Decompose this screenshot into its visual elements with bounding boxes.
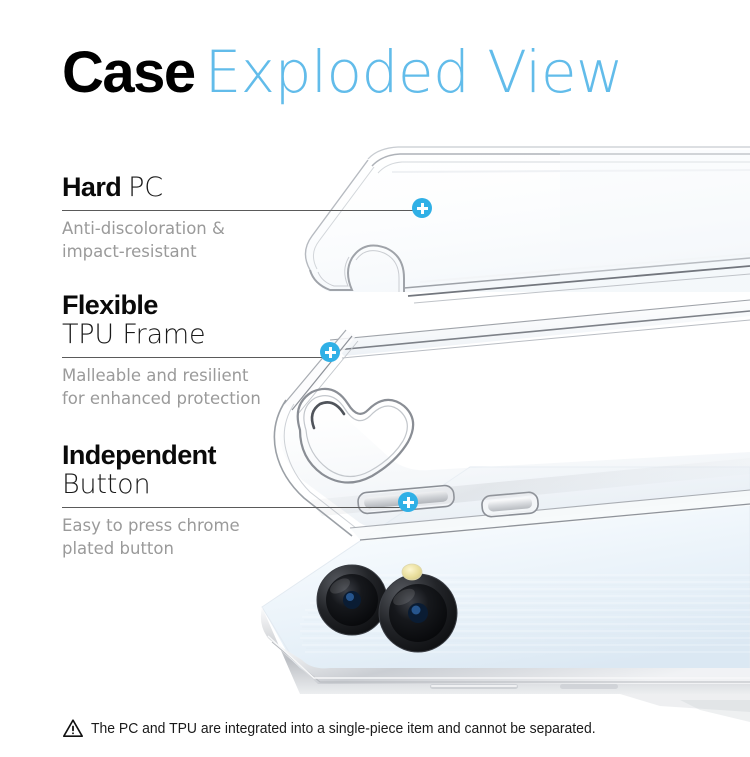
feature-hard-pc: HardPC Anti-discoloration & impact-resis…: [62, 172, 414, 264]
feature-hard-pc-description: Anti-discoloration & impact-resistant: [62, 218, 414, 264]
feature-hard-pc-heading: HardPC: [62, 172, 414, 203]
feature-hard-pc-light-label: PC: [128, 172, 163, 203]
camera-module: [317, 564, 457, 652]
page-title-bold: Case: [62, 40, 195, 105]
feature-independent-button-heading: Independent Button: [62, 440, 408, 500]
feature-flexible-tpu-frame-light-label: TPU Frame: [62, 320, 322, 350]
plus-marker-button[interactable]: [398, 492, 418, 512]
feature-independent-button-bold-label: Independent: [62, 440, 216, 470]
page-title: CaseExploded View: [62, 38, 623, 106]
warning-triangle-icon: [62, 718, 84, 738]
footer-disclaimer-text: The PC and TPU are integrated into a sin…: [91, 720, 596, 737]
feature-hard-pc-rule: [62, 210, 414, 211]
plus-marker-hard-pc[interactable]: [412, 198, 432, 218]
feature-hard-pc-desc-line2: impact-resistant: [62, 242, 197, 261]
feature-flexible-tpu-frame-desc-line2: for enhanced protection: [62, 389, 261, 408]
feature-hard-pc-desc-line1: Anti-discoloration &: [62, 219, 225, 238]
feature-independent-button-description: Easy to press chrome plated button: [62, 515, 408, 561]
page-title-light: Exploded View: [205, 38, 623, 106]
feature-hard-pc-bold-label: Hard: [62, 172, 121, 202]
feature-flexible-tpu-frame-rule: [62, 357, 322, 358]
feature-independent-button-light-label: Button: [62, 470, 408, 500]
phone-side-buttons: [430, 684, 618, 689]
feature-independent-button-desc-line1: Easy to press chrome: [62, 516, 240, 535]
footer-disclaimer: The PC and TPU are integrated into a sin…: [62, 718, 634, 738]
feature-independent-button: Independent Button Easy to press chrome …: [62, 440, 408, 561]
feature-flexible-tpu-frame: Flexible TPU Frame Malleable and resilie…: [62, 290, 322, 411]
feature-flexible-tpu-frame-heading: Flexible TPU Frame: [62, 290, 322, 350]
feature-independent-button-desc-line2: plated button: [62, 539, 174, 558]
feature-flexible-tpu-frame-bold-label: Flexible: [62, 290, 158, 320]
plus-marker-tpu-frame[interactable]: [320, 342, 340, 362]
infographic-page: CaseExploded View HardPC Anti-discolorat…: [0, 0, 750, 757]
feature-flexible-tpu-frame-description: Malleable and resilient for enhanced pro…: [62, 365, 322, 411]
feature-independent-button-rule: [62, 507, 408, 508]
feature-flexible-tpu-frame-desc-line1: Malleable and resilient: [62, 366, 249, 385]
